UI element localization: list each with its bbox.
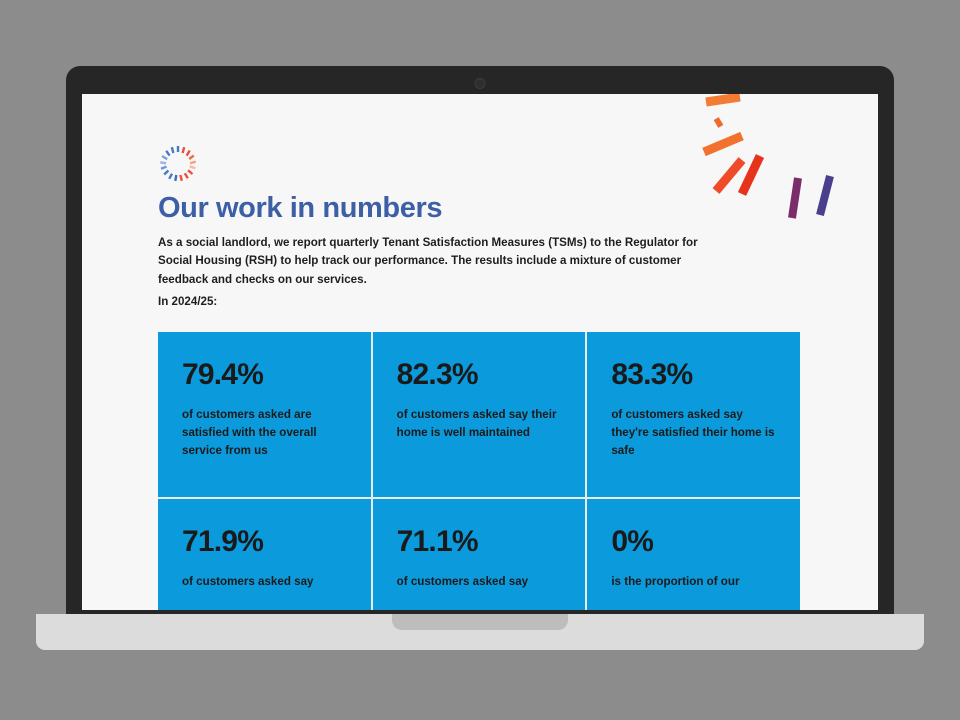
burst-logo bbox=[156, 142, 200, 186]
stat-label: of customers asked say their home is wel… bbox=[397, 406, 562, 442]
document-page: Our work in numbers As a social landlord… bbox=[82, 94, 878, 610]
year-label: In 2024/25: bbox=[158, 295, 217, 308]
stat-value: 71.1% bbox=[397, 527, 562, 557]
page-title: Our work in numbers bbox=[158, 192, 442, 225]
laptop-screen: Our work in numbers As a social landlord… bbox=[82, 94, 878, 610]
stat-value: 71.9% bbox=[182, 527, 347, 557]
stats-grid: 79.4% of customers asked are satisfied w… bbox=[158, 332, 800, 610]
stat-value: 82.3% bbox=[397, 360, 562, 390]
stat-card: 83.3% of customers asked say they're sat… bbox=[587, 332, 800, 497]
stat-value: 83.3% bbox=[611, 360, 776, 390]
laptop-lid: Our work in numbers As a social landlord… bbox=[66, 66, 894, 618]
webcam-icon bbox=[475, 78, 486, 89]
stat-label: of customers asked say bbox=[397, 573, 562, 591]
stat-label: of customers asked are satisfied with th… bbox=[182, 406, 347, 460]
stat-card: 79.4% of customers asked are satisfied w… bbox=[158, 332, 371, 497]
stat-card: 82.3% of customers asked say their home … bbox=[373, 332, 586, 497]
stat-card: 0% is the proportion of our bbox=[587, 499, 800, 610]
intro-paragraph: As a social landlord, we report quarterl… bbox=[158, 234, 708, 289]
stat-card: 71.9% of customers asked say bbox=[158, 499, 371, 610]
stat-card: 71.1% of customers asked say bbox=[373, 499, 586, 610]
stat-label: of customers asked say bbox=[182, 573, 347, 591]
stat-label: of customers asked say they're satisfied… bbox=[611, 406, 776, 460]
decorative-burst bbox=[694, 94, 878, 240]
stat-value: 79.4% bbox=[182, 360, 347, 390]
laptop-base-notch bbox=[392, 614, 568, 630]
stat-label: is the proportion of our bbox=[611, 573, 776, 591]
stat-value: 0% bbox=[611, 527, 776, 557]
